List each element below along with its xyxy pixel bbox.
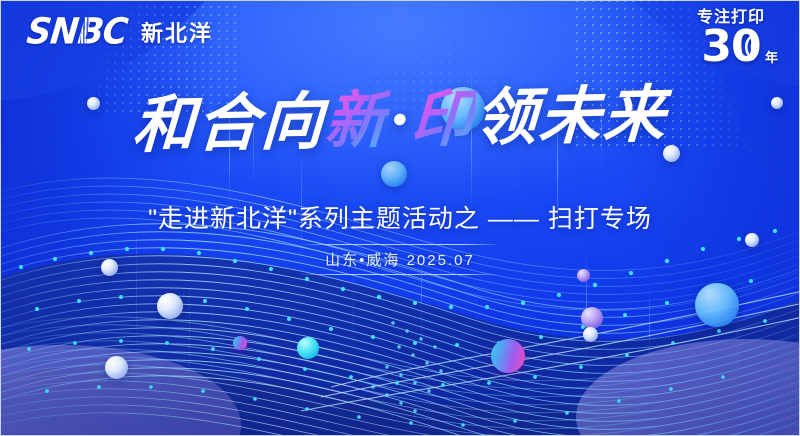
- headline: 和合向新·印领未来: [131, 83, 668, 156]
- decorative-sphere-white: [583, 327, 598, 342]
- subtitle: "走进新北洋"系列主题活动之 —— 扫打专场: [1, 199, 799, 235]
- event-meta-inner: 山东•威海 2025.07: [299, 244, 501, 275]
- event-meta-text: 山东•威海 2025.07: [325, 252, 475, 269]
- meta-rule-top: [299, 244, 501, 245]
- meta-rule-bottom: [299, 274, 501, 275]
- decorative-sphere-white: [105, 356, 128, 379]
- headline-segment-1: 和合向: [131, 85, 327, 162]
- decorative-sphere-pink: [491, 339, 525, 373]
- snbc-wordmark-part2: B: [76, 14, 105, 50]
- decorative-sphere-blue: [695, 283, 739, 327]
- company-name-cn: 新北洋: [141, 16, 213, 48]
- anniversary-badge: 专注打印 3 0 年: [679, 9, 783, 67]
- headline-segment-4: 领未来: [473, 77, 669, 154]
- badge-number: 3 0 年: [679, 27, 783, 67]
- brand-logo[interactable]: SNBC 新北洋: [27, 15, 213, 49]
- snbc-wordmark-part3: C: [101, 11, 129, 53]
- event-banner: SNBC 新北洋 专注打印 3 0 年 和合向新·印领未来 "走进新北洋: [0, 0, 800, 436]
- badge-number-three: 3: [701, 27, 731, 67]
- headline-container: 和合向新·印领未来: [1, 89, 799, 151]
- decorative-sphere-violet: [581, 307, 603, 329]
- badge-unit: 年: [765, 53, 777, 65]
- decorative-sphere-pink: [233, 336, 247, 350]
- headline-segment-3-gradient: 印: [409, 81, 477, 155]
- decorative-sphere-cyan: [297, 337, 319, 359]
- concentric-arcs-icon: [728, 30, 762, 64]
- decorative-sphere-blue: [381, 161, 407, 187]
- badge-number-zero-wrap: 0: [731, 27, 761, 67]
- decorative-sphere-white: [157, 293, 183, 319]
- snbc-wordmark: SNBC: [25, 14, 129, 50]
- event-meta: 山东•威海 2025.07: [1, 244, 799, 275]
- headline-segment-2-gradient: 新: [323, 83, 391, 157]
- snbc-wordmark-part1: SN: [25, 11, 80, 53]
